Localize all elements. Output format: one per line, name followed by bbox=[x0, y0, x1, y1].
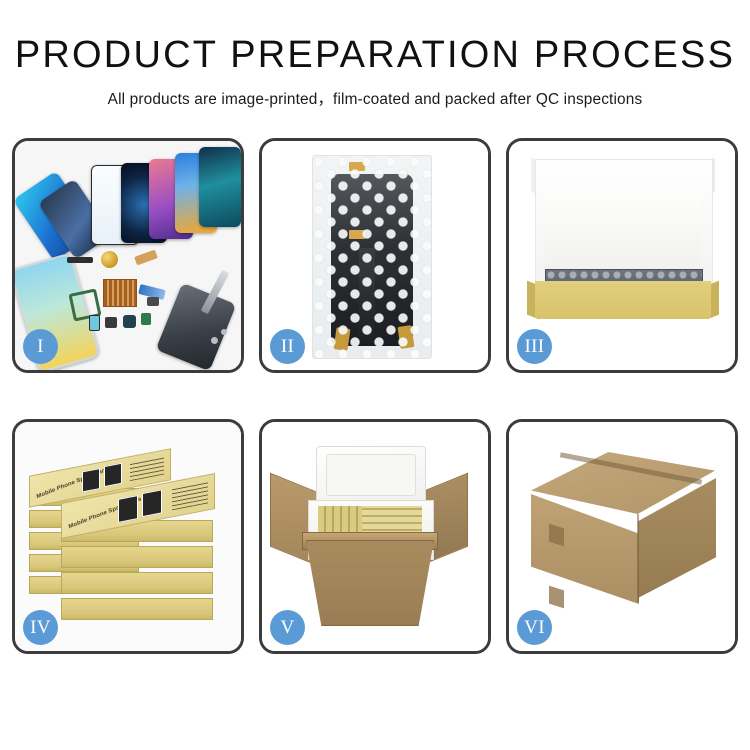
small-part-1-icon bbox=[89, 315, 100, 331]
step-badge-3: III bbox=[517, 329, 552, 364]
stack-box-lcd-swatch-back-2 bbox=[104, 463, 122, 487]
small-part-2-icon bbox=[105, 317, 117, 328]
screw-1-icon bbox=[211, 337, 218, 344]
stack-box-lcd-swatch-front-2 bbox=[142, 489, 162, 517]
stack-box-spec-lines-back bbox=[130, 456, 164, 482]
stack-box-spec-lines-front bbox=[172, 481, 208, 510]
process-step-panel-4[interactable]: Mobile Phone Spare Parts Mobile Phone Sp… bbox=[12, 419, 244, 654]
process-step-grid: I II III bbox=[12, 138, 738, 654]
chip-grid-part-icon bbox=[103, 279, 137, 307]
step-badge-2: II bbox=[270, 329, 305, 364]
page-header: PRODUCT PREPARATION PROCESS All products… bbox=[0, 0, 750, 109]
process-step-panel-6[interactable]: VI bbox=[506, 419, 738, 654]
box-stack: Mobile Phone Spare Parts Mobile Phone Sp… bbox=[27, 446, 227, 632]
page-subtitle: All products are image-printed，film-coat… bbox=[0, 87, 750, 109]
speaker-part-icon bbox=[67, 257, 93, 263]
screw-2-icon bbox=[221, 329, 227, 335]
small-part-5-icon bbox=[147, 297, 159, 306]
carton-body bbox=[306, 540, 434, 626]
gold-coil-part-icon bbox=[101, 251, 118, 268]
foam-lid-inner bbox=[326, 454, 416, 496]
process-step-panel-3[interactable]: III bbox=[506, 138, 738, 373]
carton-vertical-edge bbox=[637, 514, 639, 602]
carton-tape-lower bbox=[549, 586, 564, 609]
phone-rear-cover-icon bbox=[156, 283, 237, 371]
stack-box-front-3 bbox=[61, 572, 213, 594]
stack-box-lcd-swatch-front-1 bbox=[118, 495, 138, 523]
step-badge-5: V bbox=[270, 610, 305, 645]
page-title: PRODUCT PREPARATION PROCESS bbox=[0, 36, 750, 76]
process-step-panel-2[interactable]: II bbox=[259, 138, 491, 373]
process-step-panel-5[interactable]: V bbox=[259, 419, 491, 654]
small-part-3-icon bbox=[123, 315, 136, 328]
box-front-panel bbox=[535, 281, 711, 319]
flex-cable-c-icon bbox=[134, 250, 158, 266]
foam-sheet bbox=[545, 195, 701, 271]
step-badge-6: VI bbox=[517, 610, 552, 645]
phone-teal-screen-icon bbox=[199, 147, 241, 227]
stack-box-front-4 bbox=[61, 598, 213, 620]
bubble-highlight-layer bbox=[313, 156, 431, 358]
step-badge-1: I bbox=[23, 329, 58, 364]
stack-box-lcd-swatch-back-1 bbox=[82, 468, 100, 492]
step-badge-4: IV bbox=[23, 610, 58, 645]
stack-box-front-2 bbox=[61, 546, 213, 568]
process-step-panel-1[interactable]: I bbox=[12, 138, 244, 373]
small-part-4-icon bbox=[141, 313, 151, 325]
bubble-wrap-bag bbox=[312, 155, 432, 359]
